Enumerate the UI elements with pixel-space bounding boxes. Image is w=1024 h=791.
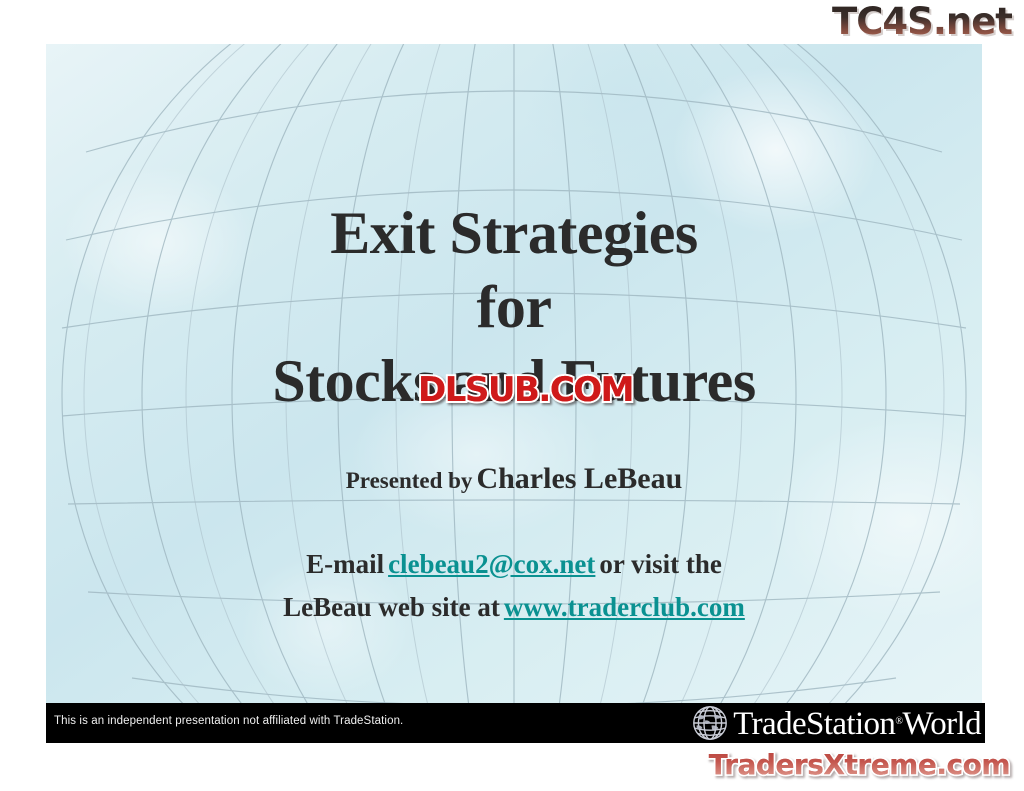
- email-label: E-mail: [306, 549, 384, 579]
- logo-text-b: World: [902, 706, 981, 742]
- globe-icon: [689, 705, 731, 741]
- website-label: LeBeau web site at: [283, 592, 500, 622]
- presenter-name: Charles LeBeau: [476, 462, 682, 495]
- title-line-1: Exit Strategies: [46, 196, 982, 270]
- presenter-line: Presented by Charles LeBeau: [46, 462, 982, 496]
- presentation-page: TC4S.net TC4S.net: [0, 0, 1024, 791]
- logo-text-a: TradeStation: [733, 706, 895, 742]
- bottom-right-watermark: TradersXtreme.com: [709, 748, 1010, 782]
- contact-line-2: LeBeau web site at www.traderclub.com: [46, 592, 982, 623]
- title-line-2: for: [46, 270, 982, 344]
- registered-mark: ®: [895, 716, 902, 727]
- presenter-prefix: Presented by: [346, 468, 473, 493]
- website-link[interactable]: www.traderclub.com: [504, 592, 745, 622]
- contact-line-1: E-mail clebeau2@cox.net or visit the: [46, 549, 982, 580]
- slide-canvas: Exit Strategies for Stocks and Futures P…: [46, 44, 982, 706]
- footer-bar: This is an independent presentation not …: [46, 703, 985, 743]
- tradestationworld-logo: TradeStation®World: [689, 704, 981, 742]
- disclaimer-text: This is an independent presentation not …: [54, 715, 403, 727]
- tradestationworld-wordmark: TradeStation®World: [733, 703, 981, 741]
- email-link[interactable]: clebeau2@cox.net: [388, 549, 595, 579]
- email-suffix: or visit the: [599, 549, 722, 579]
- top-right-watermark: TC4S.net: [832, 2, 1012, 42]
- dlsub-watermark: DLSUB.COM: [418, 370, 633, 410]
